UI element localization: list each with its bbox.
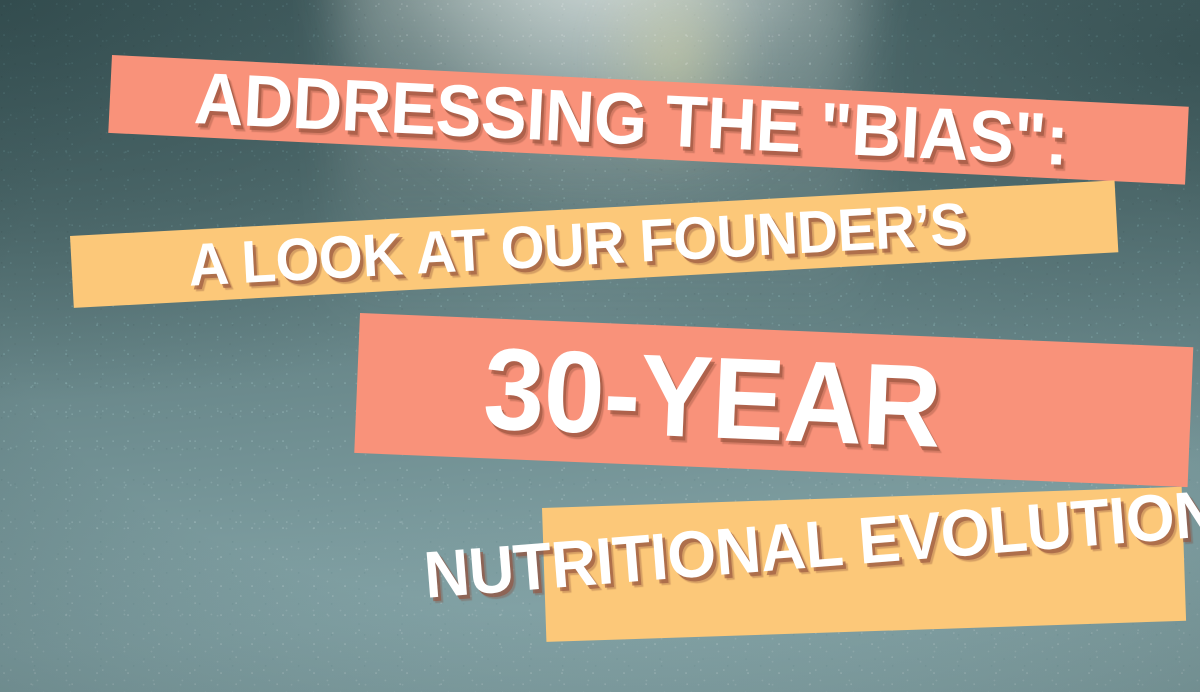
title-banner-line-4: NUTRITIONAL EVOLUTION: [542, 487, 1186, 642]
title-card-stage: ADDRESSING THE "BIAS": A LOOK AT OUR FOU…: [0, 0, 1200, 692]
title-line-3-text: 30-YEAR: [355, 325, 943, 465]
